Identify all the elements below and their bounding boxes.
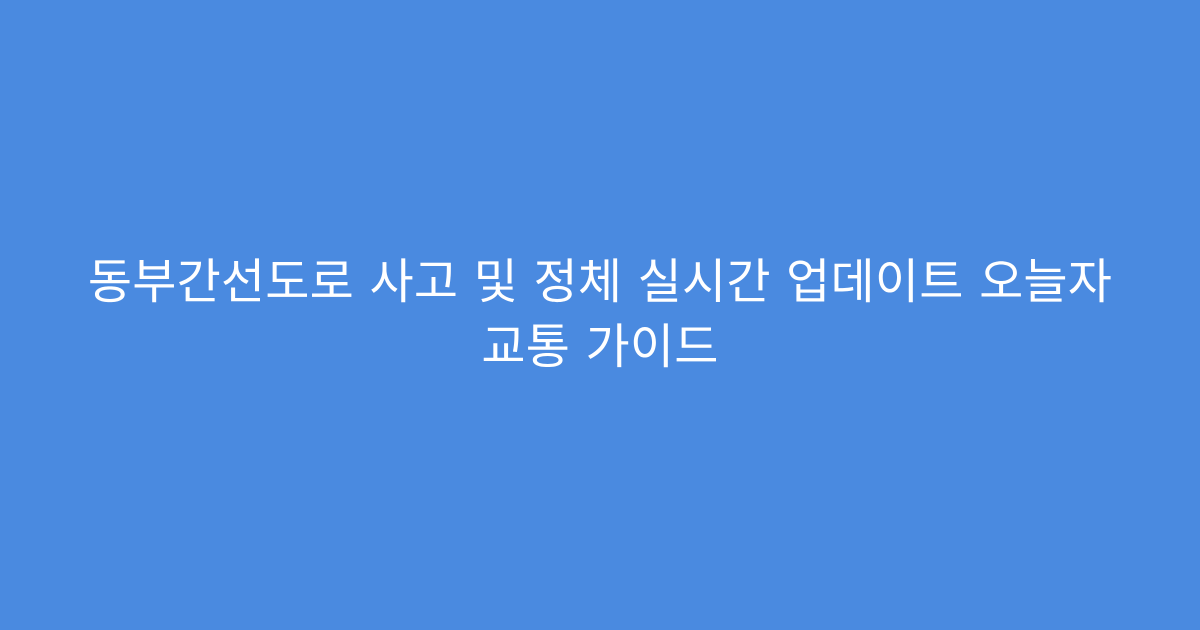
share-card-content: 동부간선도로 사고 및 정체 실시간 업데이트 오늘자 교통 가이드 — [80, 250, 1120, 380]
page-title: 동부간선도로 사고 및 정체 실시간 업데이트 오늘자 교통 가이드 — [80, 250, 1120, 380]
share-card: 동부간선도로 사고 및 정체 실시간 업데이트 오늘자 교통 가이드 — [0, 0, 1200, 630]
